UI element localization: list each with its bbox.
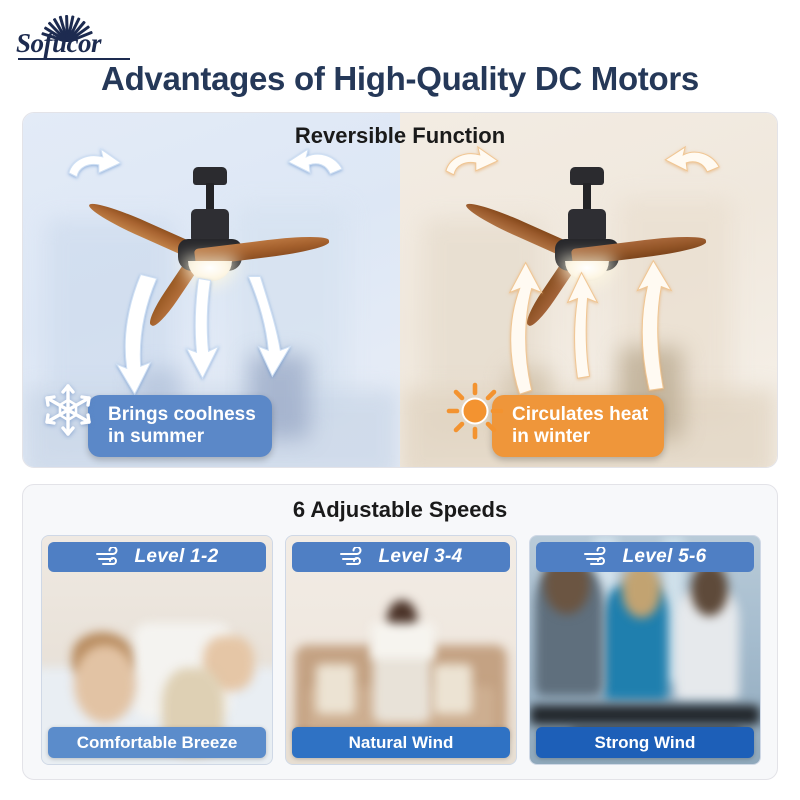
caption-bar: Natural Wind xyxy=(292,727,510,758)
fan-motor-housing xyxy=(568,209,606,243)
speed-card[interactable]: Level 5-6 Strong Wind xyxy=(529,535,761,765)
ceiling-fan-summer xyxy=(45,161,375,361)
winter-caption-pill: Circulates heat in winter xyxy=(492,395,664,457)
level-label: Level 3-4 xyxy=(378,546,462,568)
caption-label: Natural Wind xyxy=(349,733,454,753)
brand-logo: Sofucor xyxy=(10,12,140,62)
fan-led-light xyxy=(565,261,609,281)
wind-icon xyxy=(95,547,125,567)
summer-caption-line1: Brings coolness xyxy=(108,404,256,425)
summer-caption-pill: Brings coolness in summer xyxy=(88,395,272,457)
speed-card[interactable]: Level 3-4 Natural Wind xyxy=(285,535,517,765)
level-bar: Level 1-2 xyxy=(48,542,266,572)
brand-name: Sofucor xyxy=(16,28,101,59)
winter-caption-line1: Circulates heat xyxy=(512,404,648,425)
caption-label: Comfortable Breeze xyxy=(77,733,238,753)
reversible-function-heading: Reversible Function xyxy=(23,123,777,149)
snowflake-icon xyxy=(38,380,98,440)
caption-bar: Comfortable Breeze xyxy=(48,727,266,758)
page-title: Advantages of High-Quality DC Motors xyxy=(0,60,800,98)
summer-caption-line2: in summer xyxy=(108,426,204,447)
level-bar: Level 3-4 xyxy=(292,542,510,572)
level-label: Level 1-2 xyxy=(134,546,218,568)
wind-icon xyxy=(583,547,613,567)
caption-bar: Strong Wind xyxy=(536,727,754,758)
adjustable-speeds-heading: 6 Adjustable Speeds xyxy=(23,497,777,523)
winter-caption-line2: in winter xyxy=(512,426,590,447)
ceiling-fan-winter xyxy=(422,161,752,361)
speed-card[interactable]: Level 1-2 Comfortable Breeze xyxy=(41,535,273,765)
fan-led-light xyxy=(188,261,232,281)
fan-motor-housing xyxy=(191,209,229,243)
caption-label: Strong Wind xyxy=(595,733,696,753)
sun-icon xyxy=(446,382,504,440)
level-bar: Level 5-6 xyxy=(536,542,754,572)
level-label: Level 5-6 xyxy=(622,546,706,568)
wind-icon xyxy=(339,547,369,567)
speed-card-list: Level 1-2 Comfortable Breeze Level 3-4 xyxy=(41,535,761,765)
adjustable-speeds-panel: 6 Adjustable Speeds Level 1-2 Comfortabl… xyxy=(22,484,778,780)
